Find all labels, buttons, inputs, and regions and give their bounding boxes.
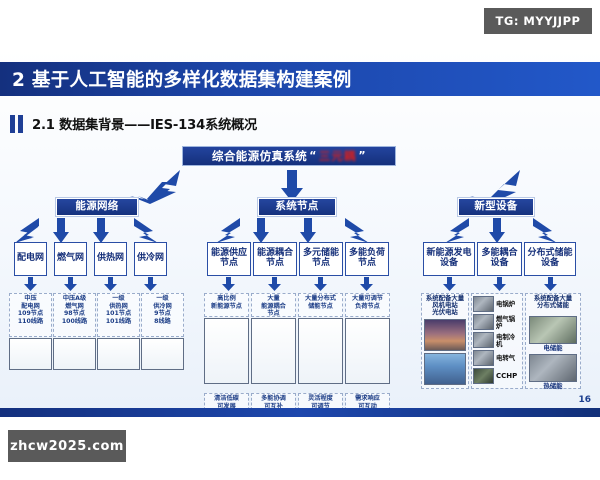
node-renewable-generation-equipment: 新能源发电设备 [423, 242, 475, 276]
node-label: 多能耦合设备 [478, 249, 521, 268]
quote-open: “ [309, 150, 317, 162]
arrow-hn-down [104, 277, 117, 291]
section-marker-icon [10, 115, 23, 133]
node-label: 供热网 [97, 254, 124, 264]
arrow-ms-down [314, 277, 327, 291]
node-label: 多能负荷节点 [346, 249, 388, 268]
equipment-photo-electric-chiller [473, 332, 494, 348]
node-gas-network: 燃气网 [54, 242, 87, 276]
detail-heating-network: 一级 供热网 101节点 101线路 [97, 293, 140, 337]
slide-canvas: 2 基于人工智能的多样化数据集构建案例 2.1 数据集背景——IES-134系统… [0, 48, 600, 408]
network-schematic-thumb [97, 338, 140, 370]
footer-line: 多能协调 [261, 396, 286, 403]
caption-thermal-storage: 热储能 [529, 383, 577, 390]
wind-farm-photo [424, 319, 466, 351]
node-multi-storage: 多元储能节点 [299, 242, 343, 276]
equipment-label-gas-boiler: 燃气锅炉 [496, 316, 520, 329]
arrow-sn-to-child-2 [300, 218, 316, 244]
detail-multi-storage: 大量分布式 储能节点 [298, 293, 343, 317]
equipment-label-electric-boiler: 电锅炉 [496, 301, 515, 308]
arrow-en-to-child-2 [93, 218, 109, 244]
node-chart-thumb [345, 318, 390, 384]
slide-title-banner: 2 基于人工智能的多样化数据集构建案例 [0, 62, 600, 96]
footer-line: 清洁低碳 [214, 396, 239, 403]
thermal-storage-photo [529, 354, 577, 382]
arrow-ec-down [268, 277, 281, 291]
pv-plant-photo [424, 353, 466, 385]
detail-distribution-network: 中压 配电网 109节点 110线路 [9, 293, 52, 337]
arrow-cn-down [144, 277, 157, 291]
quote-close: ” [358, 150, 366, 162]
caption-renewable-generation: 系统配备大量 风机电站 光伏电站 [421, 295, 469, 316]
node-chart-thumb [298, 318, 343, 384]
arrow-en-to-child-0 [14, 218, 40, 244]
arrow-en-to-child-1 [53, 218, 69, 244]
footer-line: 需求响应 [355, 396, 380, 403]
root-node-label: 综合能源仿真系统 [212, 150, 307, 162]
detail-line: 中压 [24, 296, 36, 303]
node-label: 能源耦合节点 [254, 249, 296, 268]
branch-title-energy-network: 能源网络 [56, 198, 138, 216]
node-label: 能源供应节点 [208, 249, 250, 268]
arrow-mece-down [493, 277, 506, 291]
site-watermark: zhcw2025.com [8, 430, 126, 462]
equipment-photo-electric-boiler [473, 296, 494, 312]
page-number: 16 [578, 395, 591, 405]
node-label: 供冷网 [137, 254, 164, 264]
node-chart-thumb [251, 318, 296, 384]
node-multi-energy-coupling-equipment: 多能耦合设备 [477, 242, 522, 276]
architecture-diagram: 综合能源仿真系统 “ 三元耦 ” 能源网络 [0, 144, 600, 394]
arrow-sn-to-child-1 [253, 218, 269, 244]
detail-line: 110线路 [18, 319, 43, 326]
equipment-photo-power-to-gas [473, 350, 494, 366]
arrow-rge-down [443, 277, 456, 291]
arrow-sn-to-child-3 [344, 218, 370, 244]
detail-line: 100线路 [62, 319, 87, 326]
network-schematic-thumb [9, 338, 52, 370]
page-title: 2 基于人工智能的多样化数据集构建案例 [0, 66, 352, 92]
node-label: 多元储能节点 [300, 249, 342, 268]
detail-line: 高比例 [217, 296, 236, 303]
detail-line: 101线路 [106, 319, 131, 326]
detail-line: 大量 [267, 296, 279, 303]
arrow-ne-to-child-1 [489, 218, 505, 244]
detail-line: 一级 [156, 296, 168, 303]
detail-line: 一级 [112, 296, 124, 303]
detail-line: 负荷节点 [355, 304, 380, 311]
arrow-gn-down [64, 277, 77, 291]
caption-line: 分布式储能 [537, 301, 569, 309]
node-cooling-network: 供冷网 [134, 242, 167, 276]
network-schematic-thumb [141, 338, 184, 370]
equipment-photo-gas-boiler [473, 314, 494, 330]
arrow-ne-to-child-0 [444, 218, 470, 244]
node-multi-load: 多能负荷节点 [345, 242, 389, 276]
detail-energy-coupling: 大量 能源耦合 节点 [251, 293, 296, 317]
node-label: 新能源发电设备 [424, 249, 474, 268]
detail-line: 大量分布式 [305, 296, 336, 303]
redacted-text: 三元耦 [319, 150, 357, 162]
branch-label: 系统节点 [275, 201, 318, 212]
node-label: 分布式储能设备 [525, 249, 575, 268]
branch-label: 能源网络 [75, 201, 118, 212]
subtitle-text: 2.1 数据集背景——IES-134系统概况 [32, 114, 257, 133]
node-label: 配电网 [17, 254, 44, 264]
arrow-ml-down [360, 277, 373, 291]
branch-title-new-equipment: 新型设备 [458, 198, 534, 216]
node-distributed-storage-equipment: 分布式储能设备 [524, 242, 576, 276]
node-energy-coupling: 能源耦合节点 [253, 242, 297, 276]
node-heating-network: 供热网 [94, 242, 127, 276]
node-label: 燃气网 [57, 254, 84, 264]
footer-bar [0, 408, 600, 417]
detail-line: 大量可调节 [352, 296, 383, 303]
branch-title-system-nodes: 系统节点 [258, 198, 336, 216]
node-chart-thumb [204, 318, 249, 384]
detail-gas-network: 中压A级 燃气网 98节点 100线路 [53, 293, 96, 337]
detail-line: 储能节点 [308, 304, 333, 311]
detail-line: 新能源节点 [211, 304, 242, 311]
network-schematic-thumb [53, 338, 96, 370]
telegram-watermark: TG: MYYJJPP [484, 8, 592, 34]
root-node-comprehensive-energy-simulation: 综合能源仿真系统 “ 三元耦 ” [182, 146, 396, 166]
arrow-es-down [222, 277, 235, 291]
node-distribution-network: 配电网 [14, 242, 47, 276]
footer-line: 灵活程度 [308, 396, 333, 403]
equipment-label-cchp: CCHP [496, 373, 517, 380]
arrow-en-to-child-3 [133, 218, 159, 244]
detail-energy-supply: 高比例 新能源节点 [204, 293, 249, 317]
detail-line: 8线路 [154, 319, 171, 326]
branch-label: 新型设备 [474, 201, 517, 212]
arrow-dn-down [24, 277, 37, 291]
caption-electric-storage: 电储能 [529, 345, 577, 352]
detail-line: 中压A级 [63, 296, 86, 303]
arrow-sn-to-child-0 [215, 218, 241, 244]
detail-multi-load: 大量可调节 负荷节点 [345, 293, 390, 317]
equipment-photo-cchp [473, 368, 494, 384]
equipment-label-power-to-gas: 电转气 [496, 355, 515, 362]
electric-storage-photo [529, 316, 577, 344]
node-energy-supply: 能源供应节点 [207, 242, 251, 276]
slide-subtitle: 2.1 数据集背景——IES-134系统概况 [10, 114, 257, 133]
arrow-ne-to-child-2 [532, 218, 558, 244]
caption-distributed-storage: 系统配备大量 分布式储能 [525, 295, 581, 309]
arrow-dse-down [544, 277, 557, 291]
detail-cooling-network: 一级 供冷网 9节点 8线路 [141, 293, 184, 337]
caption-line: 光伏电站 [432, 308, 458, 316]
equipment-label-electric-chiller: 电制冷机 [496, 334, 520, 347]
